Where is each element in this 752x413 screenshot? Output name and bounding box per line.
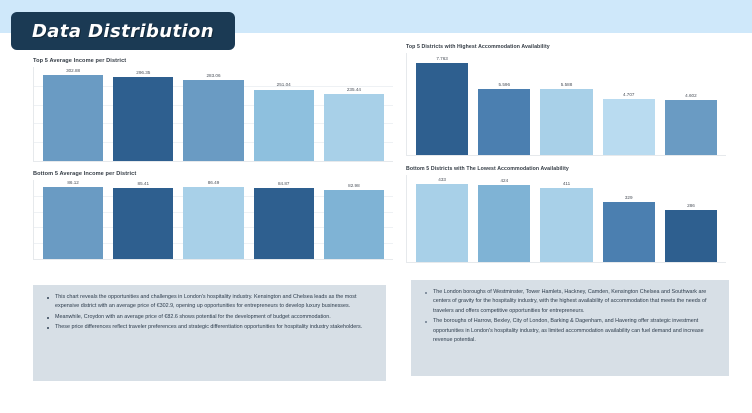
bar-value-label: 433 bbox=[411, 178, 473, 183]
bar-item[interactable]: 5.588 bbox=[535, 53, 597, 155]
chart-title-top-income: Top 5 Average Income per District bbox=[33, 58, 393, 64]
bar-group: 302.88296.35283.06251.04235.44 bbox=[34, 67, 393, 161]
bar[interactable] bbox=[478, 89, 530, 155]
insight-bullet: These price differences reflect traveler… bbox=[43, 323, 376, 332]
insight-bullet: The London boroughs of Westminster, Towe… bbox=[421, 288, 719, 316]
title-banner: Data Distribution bbox=[11, 12, 235, 50]
chart-top-income: 302.88296.35283.06251.04235.44 bbox=[33, 67, 393, 162]
bar[interactable] bbox=[665, 210, 717, 262]
bar[interactable] bbox=[324, 190, 384, 259]
bar-value-label: 283.06 bbox=[178, 74, 248, 79]
bar[interactable] bbox=[113, 77, 173, 161]
bar-item[interactable]: 5.596 bbox=[473, 53, 535, 155]
bar-value-label: 5.588 bbox=[535, 83, 597, 88]
bar[interactable] bbox=[478, 185, 530, 262]
chart-bottom-income: 86.1285.4186.4984.8782.98 bbox=[33, 180, 393, 260]
chart-title-bottom-availability: Bottom 5 Districts with The Lowest Accom… bbox=[406, 166, 726, 172]
insights-list-right: The London boroughs of Westminster, Towe… bbox=[421, 288, 719, 346]
bar[interactable] bbox=[665, 100, 717, 155]
bar[interactable] bbox=[603, 99, 655, 155]
bar-group: 7.7635.5965.5884.7074.602 bbox=[407, 53, 726, 155]
bar[interactable] bbox=[254, 188, 314, 259]
bar-value-label: 251.04 bbox=[249, 83, 319, 88]
insights-list-left: This chart reveals the opportunities and… bbox=[43, 293, 376, 333]
right-column: Top 5 Districts with Highest Accommodati… bbox=[406, 44, 726, 263]
bar-value-label: 86.12 bbox=[38, 181, 108, 186]
bar-value-label: 329 bbox=[598, 196, 660, 201]
bar[interactable] bbox=[416, 184, 468, 262]
bar[interactable] bbox=[254, 90, 314, 162]
bar-group: 433424411329286 bbox=[407, 175, 726, 262]
bar-value-label: 235.44 bbox=[319, 88, 389, 93]
chart-top-availability: 7.7635.5965.5884.7074.602 bbox=[406, 53, 726, 156]
insight-bullet: Meanwhile, Croydon with an average price… bbox=[43, 313, 376, 322]
bar-value-label: 411 bbox=[535, 182, 597, 187]
bar-value-label: 86.49 bbox=[178, 181, 248, 186]
bar[interactable] bbox=[603, 202, 655, 262]
bar-item[interactable]: 433 bbox=[411, 175, 473, 262]
bar[interactable] bbox=[43, 187, 103, 259]
bar-group: 86.1285.4186.4984.8782.98 bbox=[34, 180, 393, 259]
bar[interactable] bbox=[324, 94, 384, 161]
bar-item[interactable]: 235.44 bbox=[319, 67, 389, 161]
chart-bottom-availability: 433424411329286 bbox=[406, 175, 726, 263]
chart-title-top-availability: Top 5 Districts with Highest Accommodati… bbox=[406, 44, 726, 50]
bar-item[interactable]: 82.98 bbox=[319, 180, 389, 259]
bar[interactable] bbox=[183, 187, 243, 259]
insight-bullet: The boroughs of Harrow, Bexley, City of … bbox=[421, 317, 719, 345]
bar-item[interactable]: 251.04 bbox=[249, 67, 319, 161]
bar-value-label: 82.98 bbox=[319, 184, 389, 189]
bar-item[interactable]: 302.88 bbox=[38, 67, 108, 161]
slide-canvas: Data Distribution Top 5 Average Income p… bbox=[0, 0, 752, 413]
bar-item[interactable]: 286 bbox=[660, 175, 722, 262]
bar[interactable] bbox=[540, 188, 592, 262]
bar-item[interactable]: 84.87 bbox=[249, 180, 319, 259]
bar-value-label: 296.35 bbox=[108, 71, 178, 76]
insight-bullet: This chart reveals the opportunities and… bbox=[43, 293, 376, 312]
bar-item[interactable]: 411 bbox=[535, 175, 597, 262]
bar[interactable] bbox=[43, 75, 103, 161]
bar-value-label: 4.707 bbox=[598, 93, 660, 98]
bar-item[interactable]: 85.41 bbox=[108, 180, 178, 259]
bar-value-label: 84.87 bbox=[249, 182, 319, 187]
bar-value-label: 302.88 bbox=[38, 69, 108, 74]
bar-item[interactable]: 283.06 bbox=[178, 67, 248, 161]
bar[interactable] bbox=[416, 63, 468, 155]
bar-item[interactable]: 86.49 bbox=[178, 180, 248, 259]
left-column: Top 5 Average Income per District 302.88… bbox=[33, 58, 393, 260]
bar-value-label: 5.596 bbox=[473, 83, 535, 88]
bar-item[interactable]: 296.35 bbox=[108, 67, 178, 161]
bar-value-label: 7.763 bbox=[411, 57, 473, 62]
chart-title-bottom-income: Bottom 5 Average Income per District bbox=[33, 171, 393, 177]
bar-item[interactable]: 424 bbox=[473, 175, 535, 262]
insights-note-left: This chart reveals the opportunities and… bbox=[33, 285, 386, 381]
bar-value-label: 85.41 bbox=[108, 182, 178, 187]
bar[interactable] bbox=[113, 188, 173, 259]
bar-value-label: 424 bbox=[473, 179, 535, 184]
bar-item[interactable]: 86.12 bbox=[38, 180, 108, 259]
bar-item[interactable]: 4.707 bbox=[598, 53, 660, 155]
bar-item[interactable]: 329 bbox=[598, 175, 660, 262]
bar[interactable] bbox=[540, 89, 592, 155]
insights-note-right: The London boroughs of Westminster, Towe… bbox=[411, 280, 729, 376]
page-title: Data Distribution bbox=[32, 21, 214, 42]
bar-item[interactable]: 4.602 bbox=[660, 53, 722, 155]
bar-value-label: 4.602 bbox=[660, 94, 722, 99]
bar-value-label: 286 bbox=[660, 204, 722, 209]
bar[interactable] bbox=[183, 80, 243, 161]
bar-item[interactable]: 7.763 bbox=[411, 53, 473, 155]
